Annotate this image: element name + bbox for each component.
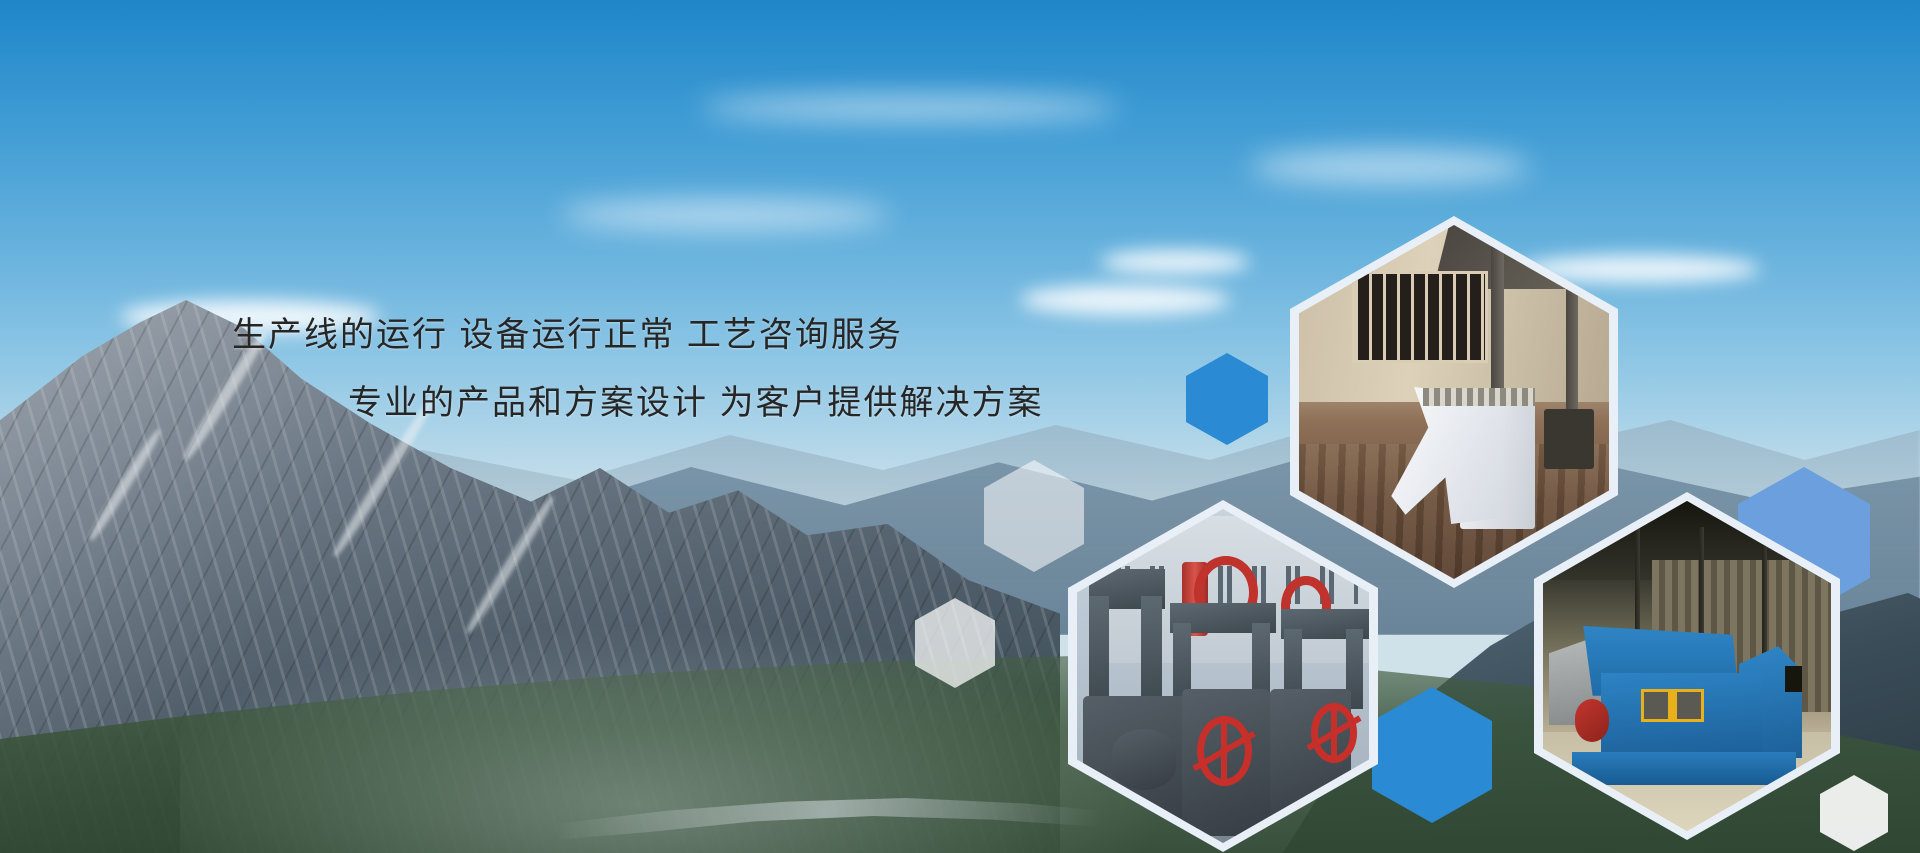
- hero-banner: 生产线的运行 设备运行正常 工艺咨询服务 专业的产品和方案设计 为客户提供解决方…: [0, 0, 1920, 853]
- headline-line-1: 生产线的运行 设备运行正常 工艺咨询服务: [0, 318, 1060, 354]
- headline-line-2: 专业的产品和方案设计 为客户提供解决方案: [0, 386, 1060, 422]
- cloud-4: [1250, 150, 1530, 184]
- photo-left-image: [1077, 509, 1369, 843]
- photo-right-image: [1543, 501, 1831, 831]
- headline-block: 生产线的运行 设备运行正常 工艺咨询服务 专业的产品和方案设计 为客户提供解决方…: [0, 318, 1060, 421]
- cloud-2: [560, 200, 890, 230]
- cloud-3: [1020, 285, 1230, 315]
- cloud-7: [1100, 250, 1250, 274]
- cloud-6: [700, 95, 1120, 121]
- photo-top-image: [1299, 225, 1609, 579]
